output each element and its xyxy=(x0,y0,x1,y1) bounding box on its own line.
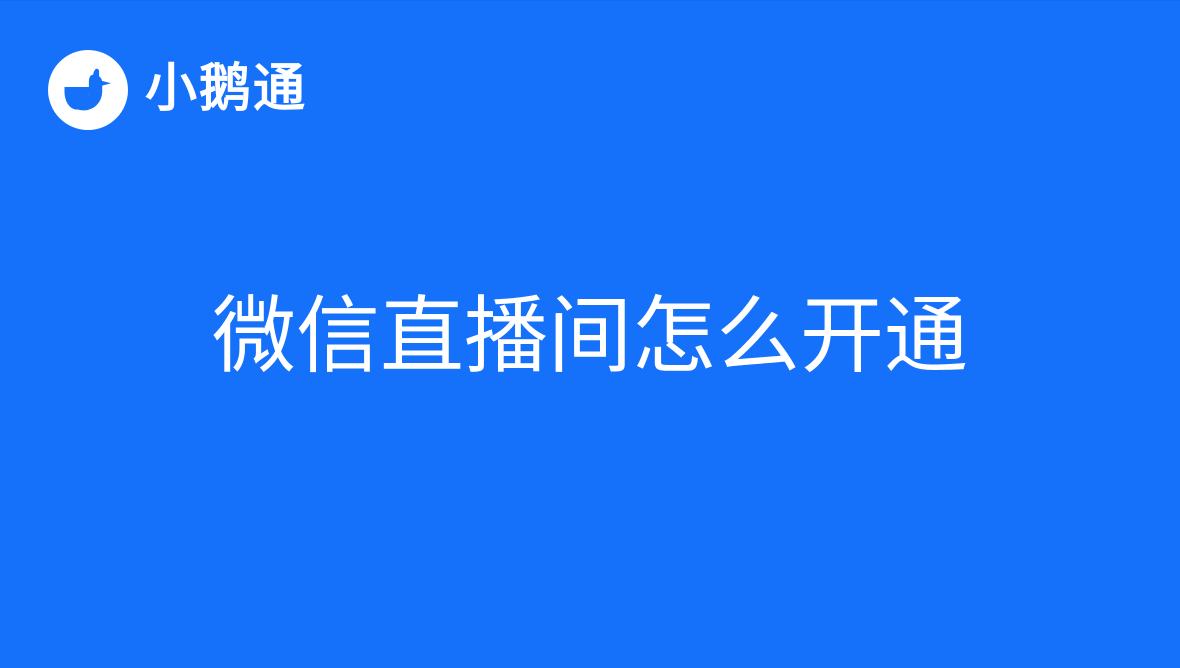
slide-canvas: 小鹅通 微信直播间怎么开通 xyxy=(0,0,1180,668)
page-title: 微信直播间怎么开通 xyxy=(212,291,968,382)
brand-name: 小鹅通 xyxy=(145,63,307,115)
headline-container: 微信直播间怎么开通 xyxy=(0,283,1180,389)
brand-lockup[interactable]: 小鹅通 xyxy=(48,50,307,130)
goose-logo-icon xyxy=(48,50,128,130)
